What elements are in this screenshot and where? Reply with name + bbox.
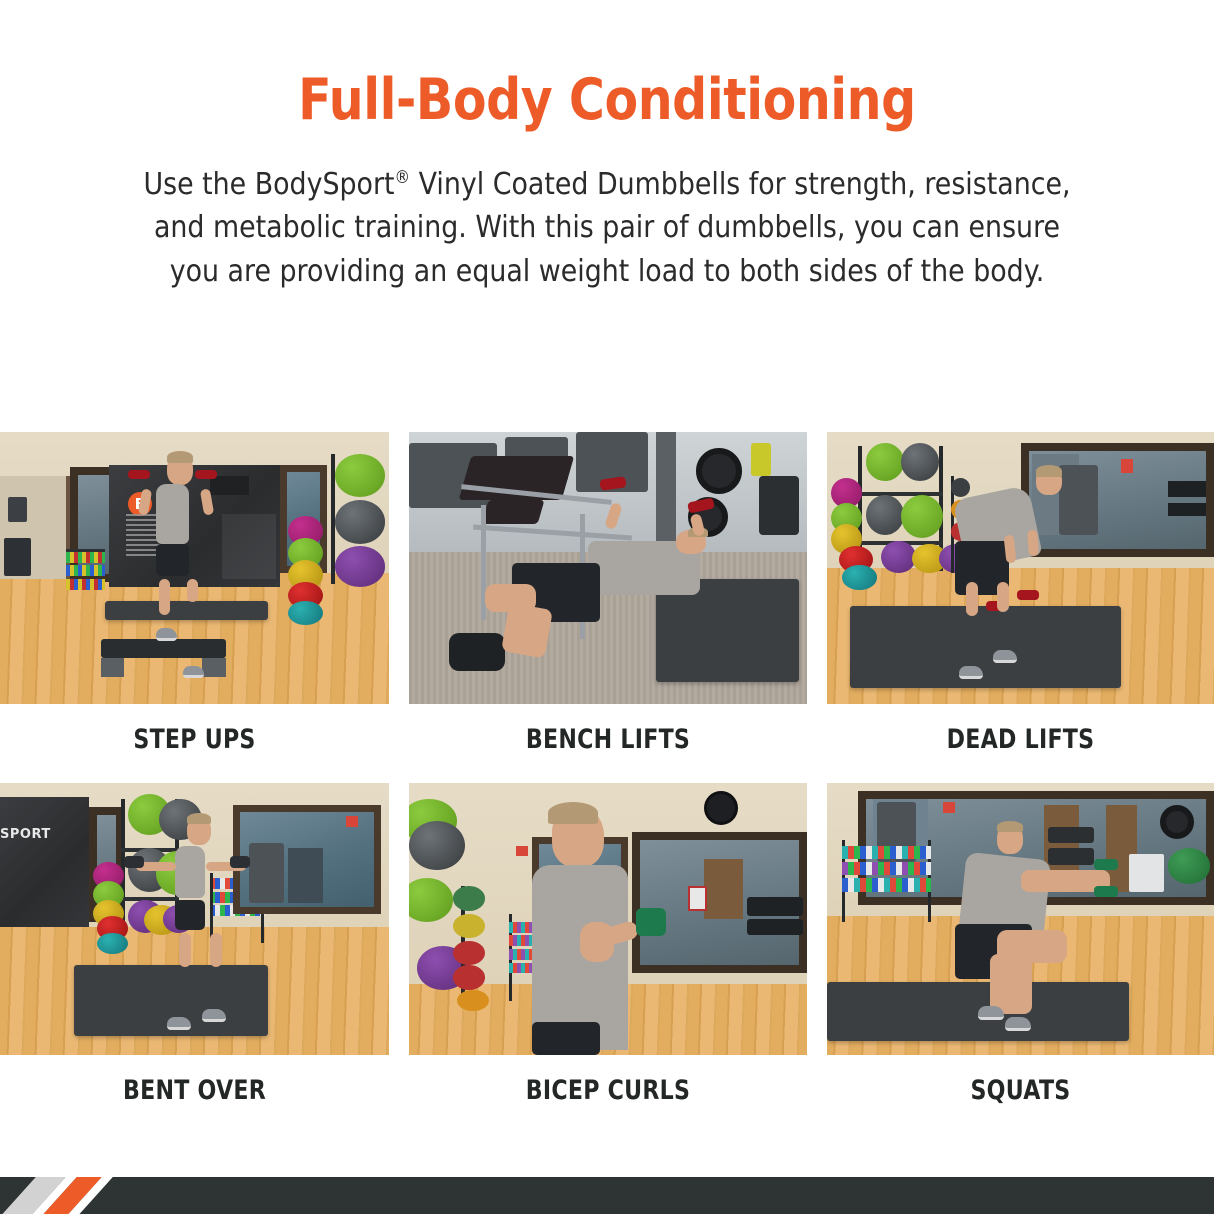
- exercise-photo-bent-over: SPORT: [0, 783, 389, 1055]
- dumbbell-red-left: [128, 470, 150, 479]
- subtitle-pre: Use the BodySport: [143, 167, 394, 202]
- dumbbell-red-right: [195, 470, 217, 479]
- page-title: Full-Body Conditioning: [85, 72, 1129, 129]
- athlete-torso: [175, 846, 205, 898]
- exercise-card-bicep-curls[interactable]: BICEP CURLS: [409, 783, 807, 1106]
- exercise-card-step-ups[interactable]: B: [0, 432, 389, 755]
- caption-dead-lifts: DEAD LIFTS: [862, 724, 1179, 755]
- banner-brand-text: SPORT: [0, 827, 51, 842]
- exercise-card-bench-lifts[interactable]: BENCH LIFTS: [409, 432, 807, 755]
- dumbbell-black-right: [230, 856, 250, 868]
- exercise-card-bent-over[interactable]: SPORT: [0, 783, 389, 1106]
- exercise-card-dead-lifts[interactable]: DEAD LIFTS: [827, 432, 1214, 755]
- step-platform: [101, 639, 225, 658]
- exercise-photo-bench-lifts: [409, 432, 807, 704]
- dumbbell-rack: [842, 846, 931, 860]
- registered-trademark-icon: ®: [395, 168, 411, 188]
- caption-bent-over: BENT OVER: [35, 1075, 354, 1106]
- wall-clock-icon: [704, 791, 738, 825]
- dumbbell-green-upper: [1094, 859, 1118, 870]
- caption-squats: SQUATS: [862, 1075, 1179, 1106]
- dumbbell-black-left: [124, 856, 144, 868]
- header: Full-Body Conditioning Use the BodySport…: [0, 0, 1214, 293]
- caption-bicep-curls: BICEP CURLS: [445, 1075, 771, 1106]
- exercise-photo-bicep-curls: [409, 783, 807, 1055]
- exercise-photo-squats: [827, 783, 1214, 1055]
- dumbbell-green: [636, 908, 666, 936]
- bodysport-banner: [0, 797, 89, 928]
- caption-step-ups: STEP UPS: [35, 724, 354, 755]
- exercise-card-squats[interactable]: SQUATS: [827, 783, 1214, 1106]
- footer-bar: [0, 1177, 1214, 1214]
- exercise-row-2: SPORT: [0, 783, 1214, 1106]
- exercise-photo-grid: B: [0, 432, 1214, 1106]
- dumbbell-red-right: [1017, 590, 1039, 600]
- exercise-row-1: B: [0, 432, 1214, 755]
- weight-plate-icon: [696, 448, 742, 494]
- exercise-photo-dead-lifts: [827, 432, 1214, 704]
- exercise-photo-step-ups: B: [0, 432, 389, 704]
- caption-bench-lifts: BENCH LIFTS: [445, 724, 771, 755]
- page-subtitle: Use the BodySport® Vinyl Coated Dumbbell…: [136, 163, 1078, 293]
- dumbbell-green-lower: [1094, 886, 1118, 897]
- athlete-torso: [156, 484, 189, 544]
